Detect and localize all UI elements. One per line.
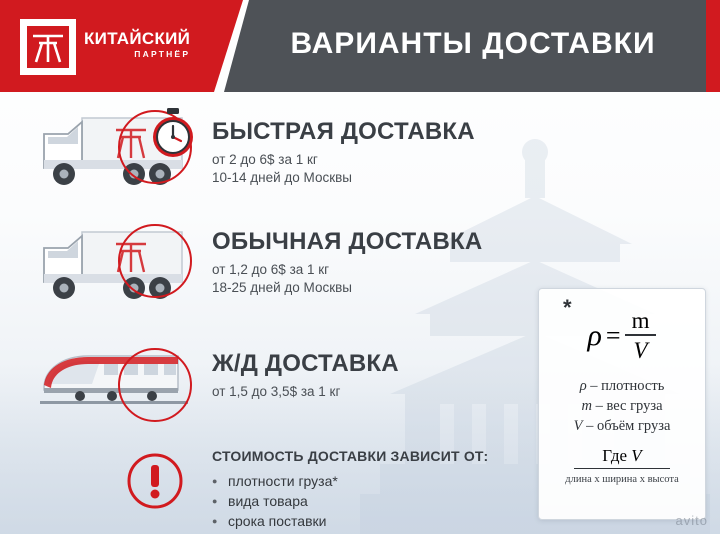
formula-fraction: m V <box>625 309 657 362</box>
legend-row-v: V – объём груза <box>539 416 705 436</box>
list-item: плотности груза* <box>212 471 488 491</box>
formula-numerator: m <box>625 309 657 334</box>
exclamation-icon <box>126 452 184 510</box>
legend-text-v: объём груза <box>597 418 670 434</box>
legend-symbol-v: V <box>574 418 583 434</box>
legend-dash-v: – <box>586 418 593 434</box>
delivery-option-2: ОБЫЧНАЯ ДОСТАВКА от 1,2 до 6$ за 1 кг 18… <box>212 228 482 295</box>
density-formula-card: * ρ = m V ρ – плотность m – вес груза V … <box>538 288 706 520</box>
legend-dash-rho: – <box>590 378 597 394</box>
volume-divider <box>574 468 670 469</box>
delivery-option-3-price: от 1,5 до 3,5$ за 1 кг <box>212 384 399 399</box>
page-title: ВАРИАНТЫ ДОСТАВКИ <box>258 27 688 61</box>
volume-definition: Где V <box>539 446 705 466</box>
legend-symbol-m: m <box>581 398 591 414</box>
volume-where-label: Где <box>602 446 627 465</box>
cost-factors-block: СТОИМОСТЬ ДОСТАВКИ ЗАВИСИТ ОТ: плотности… <box>212 448 488 531</box>
legend-text-rho: плотность <box>601 378 664 394</box>
legend-text-m: вес груза <box>606 398 662 414</box>
delivery-option-1-title: БЫСТРАЯ ДОСТАВКА <box>212 118 475 146</box>
stopwatch-icon <box>148 106 198 160</box>
delivery-option-2-price: от 1,2 до 6$ за 1 кг <box>212 262 482 277</box>
header: КИТАЙСКИЙ ПАРТНЁР ВАРИАНТЫ ДОСТАВКИ <box>0 0 720 92</box>
list-item: срока поставки <box>212 511 488 531</box>
footnote-asterisk: * <box>563 295 572 321</box>
legend-dash-m: – <box>596 398 603 414</box>
delivery-option-1-time: 10-14 дней до Москвы <box>212 170 475 185</box>
volume-formula-text: длина х ширина х высота <box>539 474 705 485</box>
brand-name: КИТАЙСКИЙ ПАРТНЁР <box>84 30 190 60</box>
highlight-ring-3 <box>118 348 192 422</box>
list-item: вида товара <box>212 491 488 511</box>
watermark: avito <box>676 513 708 528</box>
volume-where-symbol: V <box>631 446 641 465</box>
poster: КИТАЙСКИЙ ПАРТНЁР ВАРИАНТЫ ДОСТАВКИ <box>0 0 720 534</box>
highlight-ring-2 <box>118 224 192 298</box>
formula-denominator: V <box>625 334 657 362</box>
formula-rho: ρ <box>588 319 602 353</box>
formula-equals: = <box>606 321 621 351</box>
legend-symbol-rho: ρ <box>580 378 587 394</box>
cost-factors-list: плотности груза* вида товара срока поста… <box>212 471 488 531</box>
legend-row-rho: ρ – плотность <box>539 376 705 396</box>
cost-factors-heading: СТОИМОСТЬ ДОСТАВКИ ЗАВИСИТ ОТ: <box>212 448 488 464</box>
formula-legend: ρ – плотность m – вес груза V – объём гр… <box>539 376 705 436</box>
legend-row-m: m – вес груза <box>539 396 705 416</box>
delivery-option-3-title: Ж/Д ДОСТАВКА <box>212 350 399 378</box>
delivery-option-2-title: ОБЫЧНАЯ ДОСТАВКА <box>212 228 482 256</box>
delivery-option-2-time: 18-25 дней до Москвы <box>212 280 482 295</box>
delivery-option-3: Ж/Д ДОСТАВКА от 1,5 до 3,5$ за 1 кг <box>212 350 399 399</box>
delivery-option-1: БЫСТРАЯ ДОСТАВКА от 2 до 6$ за 1 кг 10-1… <box>212 118 475 185</box>
brand-name-line2: ПАРТНЁР <box>84 48 190 60</box>
delivery-option-1-price: от 2 до 6$ за 1 кг <box>212 152 475 167</box>
brand-logo-icon <box>20 19 76 75</box>
brand-name-line1: КИТАЙСКИЙ <box>84 30 190 48</box>
